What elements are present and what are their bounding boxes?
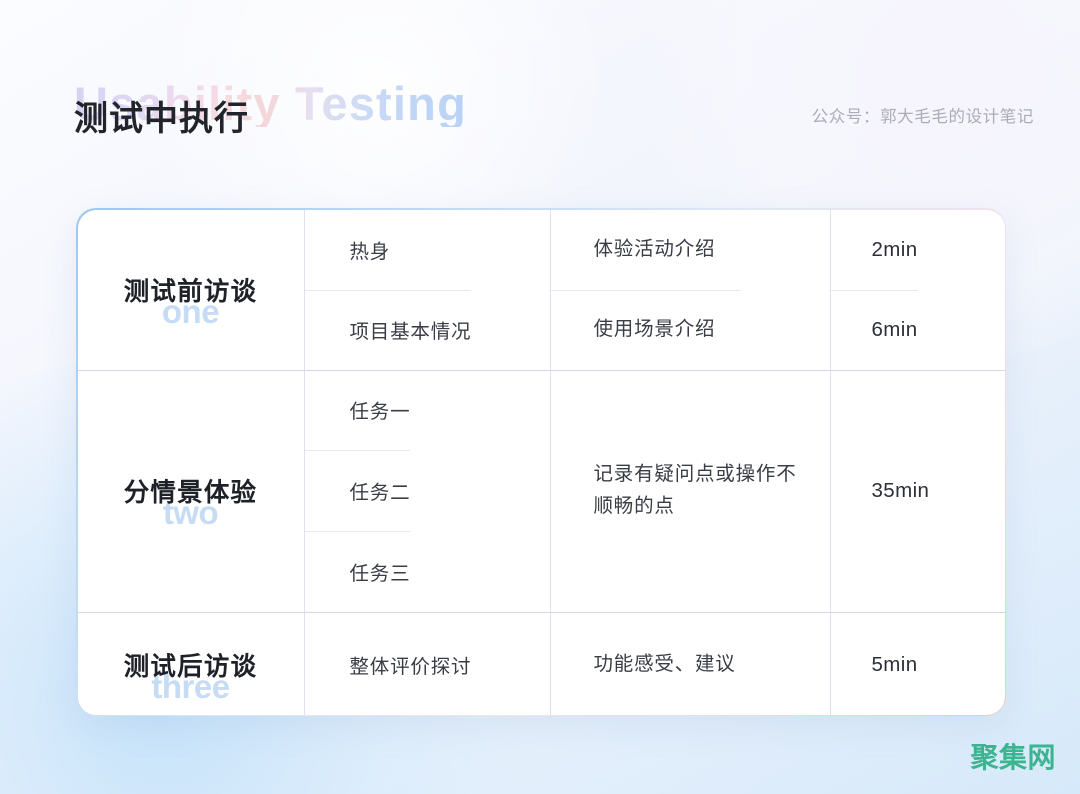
step-column: 整体评价探讨 [304, 612, 550, 715]
site-logo-watermark: 聚集网 [970, 744, 1056, 772]
detail-text: 体验活动介绍 [550, 234, 742, 266]
slide-header: Usability Testing 测试中执行 公众号：郭大毛毛的设计笔记 [0, 0, 1080, 190]
table-row-group: three 测试后访谈 整体评价探讨 功能感受、建议 5min [78, 612, 1005, 715]
schedule-table: one 测试前访谈 热身 项目基本情况 [78, 210, 1005, 715]
phase-cell: one 测试前访谈 [78, 210, 304, 370]
detail-column: 功能感受、建议 [550, 612, 830, 715]
duration-text: 35min [830, 479, 930, 503]
detail-column: 体验活动介绍 使用场景介绍 [550, 210, 830, 370]
table-row: 使用场景介绍 [550, 290, 742, 370]
step-text: 整体评价探讨 [304, 650, 472, 679]
schedule-card-surface: one 测试前访谈 热身 项目基本情况 [78, 210, 1005, 715]
table-row: 任务二 [304, 450, 411, 531]
schedule-card: one 测试前访谈 热身 项目基本情况 [76, 208, 1006, 716]
detail-text: 使用场景介绍 [550, 314, 742, 346]
duration-text: 5min [830, 653, 918, 677]
step-text: 热身 [304, 235, 391, 264]
table-row: 热身 [304, 210, 472, 290]
table-row-group: two 分情景体验 任务一 任务二 [78, 370, 1005, 612]
table-row: 2min [830, 210, 918, 290]
table-row: 任务一 [304, 370, 411, 451]
phase-inner: two 分情景体验 [124, 472, 258, 509]
step-subrows: 任务一 任务二 任务三 [304, 370, 411, 612]
duration-text: 2min [830, 238, 918, 262]
table-row: 任务三 [304, 531, 411, 612]
phase-inner: three 测试后访谈 [124, 646, 258, 683]
phase-cell: two 分情景体验 [78, 370, 304, 612]
column-divider [550, 210, 551, 715]
step-text: 任务三 [304, 557, 411, 586]
duration-column-merged: 35min [830, 370, 1005, 612]
column-divider [830, 210, 831, 715]
step-text: 任务一 [304, 395, 411, 424]
step-text: 任务二 [304, 476, 411, 505]
detail-text: 记录有疑问点或操作不顺畅的点 [550, 459, 830, 522]
column-divider [304, 210, 305, 715]
page-title: 测试中执行 [74, 102, 249, 136]
phase-label: 分情景体验 [124, 479, 258, 507]
group-divider [78, 370, 1005, 371]
table-row: 6min [830, 290, 918, 370]
step-column: 热身 项目基本情况 [304, 210, 550, 370]
slide-canvas: Usability Testing 测试中执行 公众号：郭大毛毛的设计笔记 on… [0, 0, 1080, 794]
phase-cell: three 测试后访谈 [78, 612, 304, 715]
step-column: 任务一 任务二 任务三 [304, 370, 550, 612]
table-row-group: one 测试前访谈 热身 项目基本情况 [78, 210, 1005, 370]
duration-text: 6min [830, 318, 918, 342]
group-divider [78, 612, 1005, 613]
duration-subrows: 2min 6min [830, 210, 918, 370]
detail-subrows: 体验活动介绍 使用场景介绍 [550, 210, 742, 370]
phase-label: 测试后访谈 [124, 653, 258, 681]
step-subrows: 热身 项目基本情况 [304, 210, 472, 370]
step-text: 项目基本情况 [304, 315, 472, 344]
detail-column-merged: 记录有疑问点或操作不顺畅的点 [550, 370, 830, 612]
table-row: 体验活动介绍 [550, 210, 742, 290]
phase-inner: one 测试前访谈 [124, 271, 258, 308]
duration-column: 5min [830, 612, 1005, 715]
phase-label: 测试前访谈 [124, 278, 258, 306]
table-row: 项目基本情况 [304, 290, 472, 370]
wechat-account-note: 公众号：郭大毛毛的设计笔记 [812, 103, 1034, 127]
duration-column: 2min 6min [830, 210, 1005, 370]
detail-text: 功能感受、建议 [550, 649, 762, 681]
